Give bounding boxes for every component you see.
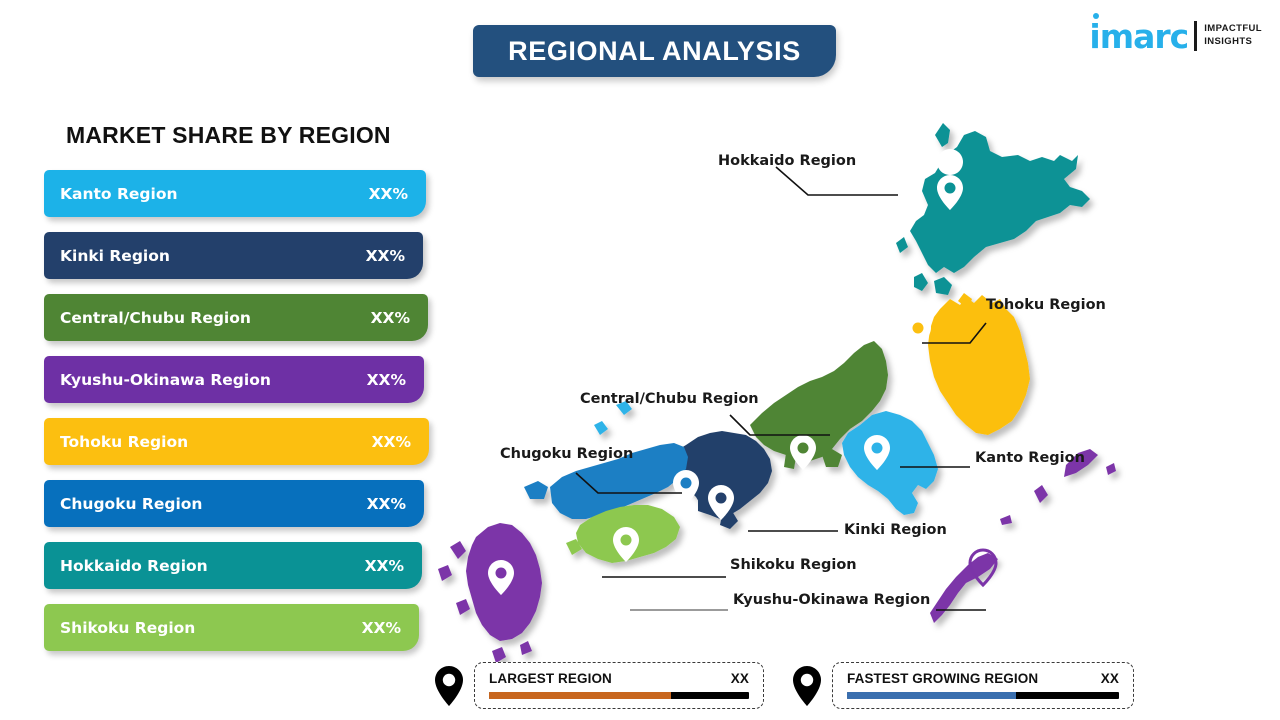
- page-title: REGIONAL ANALYSIS: [473, 25, 836, 77]
- leader-hokkaido: [776, 167, 898, 195]
- tagline-line-1: IMPACTFUL: [1204, 23, 1262, 34]
- callout-largest-region[interactable]: LARGEST REGION XX: [432, 662, 764, 709]
- callout-label: FASTEST GROWING REGION: [847, 671, 1038, 686]
- japan-map-svg: [430, 95, 1150, 670]
- market-share-heading: MARKET SHARE BY REGION: [66, 122, 391, 149]
- imarc-logo: imarc IMPACTFUL INSIGHTS: [1089, 12, 1262, 60]
- region-bar-hokkaido[interactable]: Hokkaido Region XX%: [44, 542, 422, 589]
- callout-progress-fill: [847, 692, 1016, 699]
- market-share-list: Kanto Region XX% Kinki Region XX% Centra…: [44, 170, 444, 666]
- region-bar-chugoku[interactable]: Chugoku Region XX%: [44, 480, 424, 527]
- map-label-central-chubu: Central/Chubu Region: [580, 391, 759, 407]
- region-bar-value: XX%: [371, 309, 410, 327]
- callout-value: XX: [731, 671, 749, 686]
- page-title-text: REGIONAL ANALYSIS: [508, 36, 801, 67]
- callout-box: LARGEST REGION XX: [474, 662, 764, 709]
- logo-dot-icon: [1093, 13, 1099, 19]
- region-bar-label: Chugoku Region: [60, 495, 202, 513]
- callout-row: LARGEST REGION XX: [489, 671, 749, 686]
- callout-label: LARGEST REGION: [489, 671, 612, 686]
- callout-box: FASTEST GROWING REGION XX: [832, 662, 1134, 709]
- map-label-tohoku: Tohoku Region: [986, 297, 1106, 313]
- region-bar-value: XX%: [369, 185, 408, 203]
- tagline-line-2: INSIGHTS: [1204, 36, 1252, 47]
- region-bar-value: XX%: [362, 619, 401, 637]
- map-region-kanto[interactable]: [842, 411, 938, 515]
- imarc-wordmark: imarc: [1089, 20, 1188, 53]
- region-bar-label: Kanto Region: [60, 185, 178, 203]
- region-bar-tohoku[interactable]: Tohoku Region XX%: [44, 418, 429, 465]
- map-label-shikoku: Shikoku Region: [730, 557, 857, 573]
- region-bar-value: XX%: [367, 371, 406, 389]
- region-bar-kinki[interactable]: Kinki Region XX%: [44, 232, 423, 279]
- region-bar-value: XX%: [365, 557, 404, 575]
- logo-divider: [1194, 21, 1197, 51]
- region-bar-kyushu-okinawa[interactable]: Kyushu-Okinawa Region XX%: [44, 356, 424, 403]
- imarc-wordmark-text: imarc: [1089, 17, 1188, 56]
- region-bar-value: XX%: [372, 433, 411, 451]
- slide-canvas: REGIONAL ANALYSIS imarc IMPACTFUL INSIGH…: [0, 0, 1280, 720]
- map-label-kyushu-okinawa: Kyushu-Okinawa Region: [733, 592, 930, 608]
- region-bar-central-chubu[interactable]: Central/Chubu Region XX%: [44, 294, 428, 341]
- region-bar-label: Shikoku Region: [60, 619, 195, 637]
- region-bar-value: XX%: [366, 247, 405, 265]
- region-bar-label: Central/Chubu Region: [60, 309, 251, 327]
- location-pin-icon: [790, 664, 824, 708]
- map-region-kyushu[interactable]: [438, 523, 542, 663]
- map-region-okinawa[interactable]: [930, 449, 1116, 623]
- region-bar-shikoku[interactable]: Shikoku Region XX%: [44, 604, 419, 651]
- japan-regional-map: Hokkaido Region Tohoku Region Central/Ch…: [430, 95, 1150, 670]
- map-label-chugoku: Chugoku Region: [500, 446, 633, 462]
- region-bar-label: Kyushu-Okinawa Region: [60, 371, 271, 389]
- region-bar-label: Tohoku Region: [60, 433, 188, 451]
- map-label-hokkaido: Hokkaido Region: [718, 153, 856, 169]
- map-region-tohoku[interactable]: [928, 293, 1030, 435]
- region-bar-label: Kinki Region: [60, 247, 170, 265]
- region-bar-kanto[interactable]: Kanto Region XX%: [44, 170, 426, 217]
- region-bar-label: Hokkaido Region: [60, 557, 208, 575]
- callout-progress-track: [489, 692, 749, 699]
- region-bar-value: XX%: [367, 495, 406, 513]
- callout-progress-track: [847, 692, 1119, 699]
- map-label-kanto: Kanto Region: [975, 450, 1085, 466]
- callout-fastest-growing-region[interactable]: FASTEST GROWING REGION XX: [790, 662, 1134, 709]
- location-pin-icon: [432, 664, 466, 708]
- imarc-tagline: IMPACTFUL INSIGHTS: [1204, 23, 1262, 49]
- callout-progress-fill: [489, 692, 671, 699]
- callout-row: FASTEST GROWING REGION XX: [847, 671, 1119, 686]
- map-region-hokkaido[interactable]: [896, 123, 1090, 295]
- callout-value: XX: [1101, 671, 1119, 686]
- map-label-kinki: Kinki Region: [844, 522, 947, 538]
